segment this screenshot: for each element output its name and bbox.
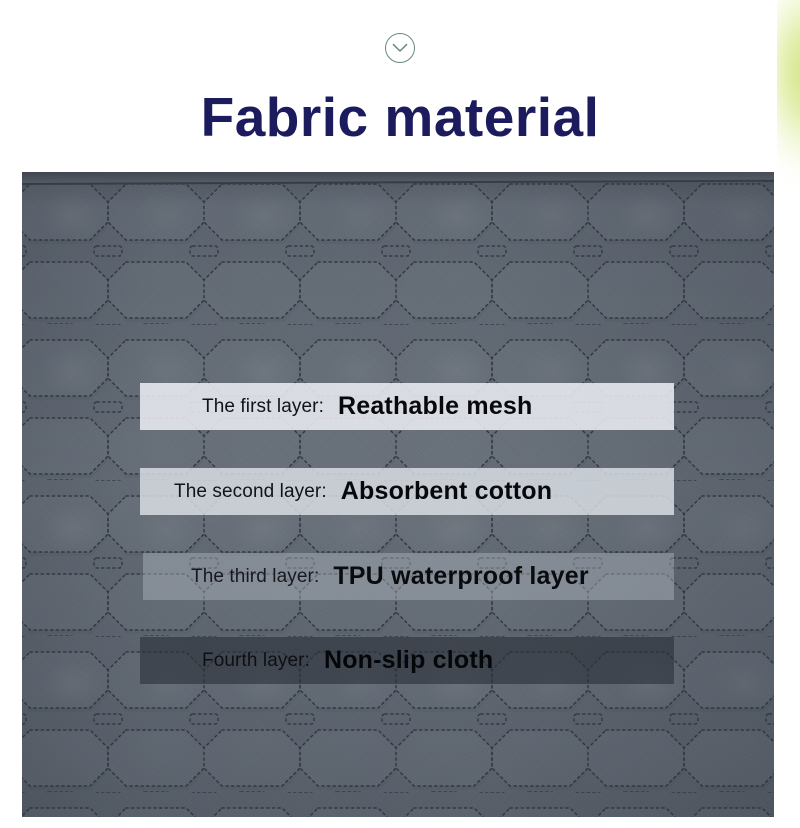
layer-label: The third layer: <box>191 566 319 588</box>
layer-value: Non-slip cloth <box>324 646 493 675</box>
layer-row-third: The third layer: TPU waterproof layer <box>143 553 674 600</box>
layer-label: The first layer: <box>202 396 324 418</box>
layer-value: Absorbent cotton <box>341 477 553 506</box>
layer-value: Reathable mesh <box>338 392 533 421</box>
bottom-margin <box>0 817 800 828</box>
layer-value: TPU waterproof layer <box>333 562 588 591</box>
layer-label: The second layer: <box>174 481 327 503</box>
layer-label: Fourth layer: <box>202 650 310 672</box>
page-title: Fabric material <box>0 86 800 148</box>
section-header: Fabric material <box>0 0 800 172</box>
layer-row-second: The second layer: Absorbent cotton <box>140 468 674 515</box>
chevron-down-icon[interactable] <box>385 33 415 63</box>
layer-row-first: The first layer: Reathable mesh <box>140 383 674 430</box>
layer-row-fourth: Fourth layer: Non-slip cloth <box>140 637 674 684</box>
fabric-material-section: Fabric material <box>0 0 800 828</box>
layer-list: The first layer: Reathable mesh The seco… <box>22 172 774 817</box>
fabric-photo: The first layer: Reathable mesh The seco… <box>22 172 774 817</box>
